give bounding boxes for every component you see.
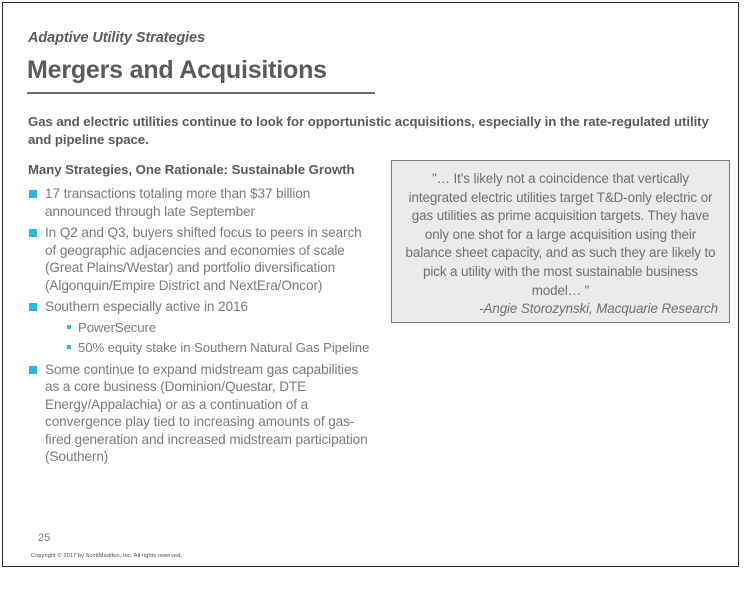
sub-list-item-text: 50% equity stake in Southern Natural Gas…: [78, 340, 369, 355]
sub-list-item: PowerSecure: [66, 319, 373, 337]
sub-list-item: 50% equity stake in Southern Natural Gas…: [66, 339, 373, 357]
copyright-notice: Copyright © 2017 by ScottMadden, Inc. Al…: [31, 553, 182, 559]
title-underline-divider: [27, 92, 375, 94]
dot-bullet-icon: [67, 325, 71, 329]
lead-paragraph: Gas and electric utilities continue to l…: [28, 113, 718, 148]
quote-text: "… It's likely not a coincidence that ve…: [403, 170, 718, 300]
slide-canvas: Adaptive Utility Strategies Mergers and …: [2, 2, 739, 567]
list-item-text: 17 transactions totaling more than $37 b…: [45, 186, 310, 219]
quote-attribution: -Angie Storozynski, Macquarie Research: [403, 300, 718, 319]
slide-eyebrow: Adaptive Utility Strategies: [28, 30, 205, 46]
square-bullet-icon: [29, 366, 37, 374]
left-content-column: Many Strategies, One Rationale: Sustaina…: [28, 161, 373, 470]
page-title: Mergers and Acquisitions: [27, 56, 327, 85]
dot-bullet-icon: [67, 345, 71, 349]
list-item: Southern especially active in 2016 Power…: [28, 298, 373, 357]
list-item-text: Southern especially active in 2016: [45, 299, 248, 314]
quote-callout-box: "… It's likely not a coincidence that ve…: [391, 160, 730, 323]
sub-bullet-list: PowerSecure 50% equity stake in Southern…: [45, 319, 373, 357]
square-bullet-icon: [29, 229, 37, 237]
sub-list-item-text: PowerSecure: [78, 320, 156, 335]
page-number: 25: [38, 532, 50, 544]
square-bullet-icon: [29, 190, 37, 198]
square-bullet-icon: [29, 303, 37, 311]
list-item: 17 transactions totaling more than $37 b…: [28, 185, 373, 220]
list-item: Some continue to expand midstream gas ca…: [28, 361, 373, 466]
bullet-list: 17 transactions totaling more than $37 b…: [28, 185, 373, 466]
list-item-text: In Q2 and Q3, buyers shifted focus to pe…: [45, 225, 362, 293]
list-item: In Q2 and Q3, buyers shifted focus to pe…: [28, 224, 373, 294]
section-heading: Many Strategies, One Rationale: Sustaina…: [28, 161, 373, 178]
list-item-text: Some continue to expand midstream gas ca…: [45, 362, 368, 465]
